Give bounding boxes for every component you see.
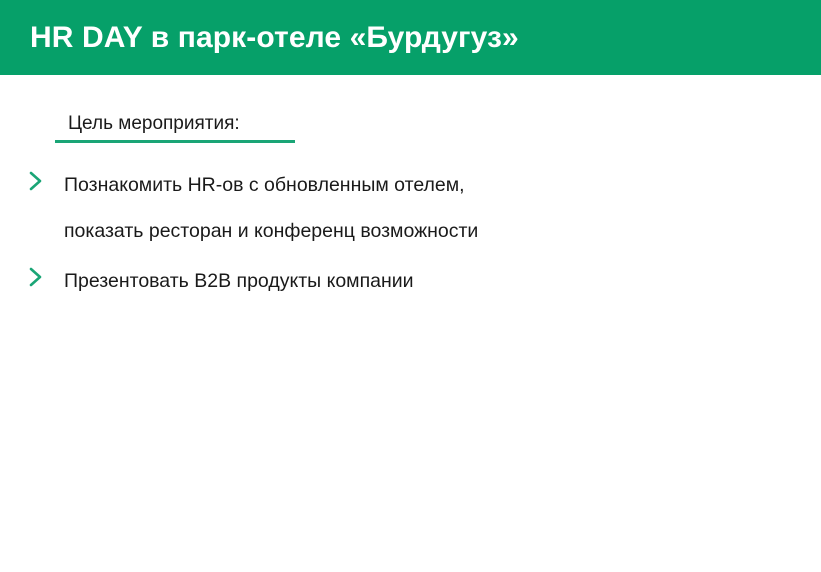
list-item: Презентовать B2B продукты компании [28,258,748,304]
section-heading-block: Цель мероприятия: [55,111,295,143]
slide-body: Цель мероприятия: Познакомить HR-ов с об… [0,75,821,572]
list-item-text: Презентовать B2B продукты компании [50,258,414,304]
presentation-slide: HR DAY в парк-отеле «Бурдугуз» Цель меро… [0,0,821,572]
section-heading-text: Цель мероприятия: [55,111,295,137]
slide-title: HR DAY в парк-отеле «Бурдугуз» [30,23,519,53]
list-item-line: показать ресторан и конференц возможност… [64,208,478,254]
objectives-list: Познакомить HR-ов с обновленным отелем, … [28,162,748,308]
list-item-line: Презентовать B2B продукты компании [64,258,414,304]
section-heading-underline [55,140,295,143]
chevron-right-icon [28,259,50,295]
list-item-line: Познакомить HR-ов с обновленным отелем, [64,162,478,208]
list-item: Познакомить HR-ов с обновленным отелем, … [28,162,748,254]
chevron-right-icon [28,163,50,199]
list-item-text: Познакомить HR-ов с обновленным отелем, … [50,162,478,254]
slide-title-banner: HR DAY в парк-отеле «Бурдугуз» [0,0,821,75]
